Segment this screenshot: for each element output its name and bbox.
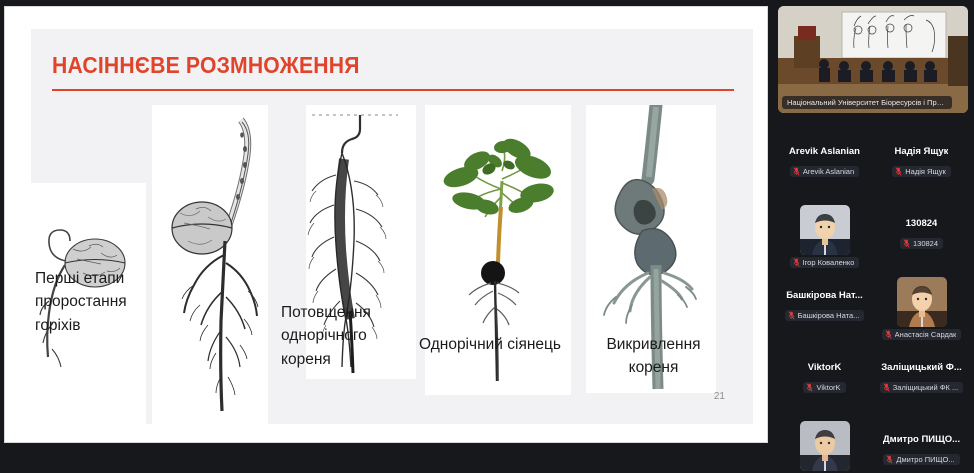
- caption-thickening-of-annual-root: Потовщення однорічного кореня: [281, 301, 411, 371]
- participant-badge-name: Надія Ящук: [905, 167, 945, 176]
- participant-name-badge: Заліщицький ФК ...: [880, 382, 963, 393]
- slide-canvas: НАСІННЄВЕ РОЗМНОЖЕННЯ: [31, 29, 753, 424]
- participant-display-name: Башкірова Нат...: [786, 290, 863, 301]
- participant-name-badge: Arevik Aslanian: [790, 166, 859, 177]
- presentation-frame: НАСІННЄВЕ РОЗМНОЖЕННЯ: [4, 6, 768, 443]
- muted-microphone-icon: [793, 167, 800, 176]
- muted-microphone-icon: [885, 330, 892, 339]
- participant-display-name: Надія Ящук: [895, 146, 949, 157]
- caption-first-germination-stages: Перші етапи проростання горіхів: [35, 267, 155, 337]
- caption-one-year-seedling: Однорічний сіянець: [419, 333, 579, 356]
- participant-badge-name: 130824: [913, 239, 938, 248]
- participant-tile[interactable]: Анастасія Сардак: [875, 271, 968, 343]
- participant-badge-name: Башкірова Ната...: [798, 311, 860, 320]
- muted-microphone-icon: [886, 455, 893, 464]
- participant-display-name: ViktorK: [808, 362, 842, 373]
- active-speaker-name-label: Національний Університет Біоресурсів і П…: [782, 96, 952, 109]
- participant-tile[interactable]: Ігор Коваленко: [778, 199, 871, 271]
- muted-microphone-icon: [895, 167, 902, 176]
- participant-badge-name: Дмитро ПИЩО...: [896, 455, 954, 464]
- avatar: [800, 205, 850, 255]
- zoom-meeting-window: НАСІННЄВЕ РОЗМНОЖЕННЯ: [0, 0, 974, 473]
- slide-page-number: 21: [714, 391, 725, 402]
- participants-sidebar: Національний Університет Біоресурсів і П…: [772, 0, 974, 473]
- muted-microphone-icon: [788, 311, 795, 320]
- muted-microphone-icon: [793, 258, 800, 267]
- title-underline-rule: [52, 89, 734, 91]
- participant-tile[interactable]: Arevik AslanianArevik Aslanian: [778, 127, 871, 199]
- active-speaker-video-tile[interactable]: Національний Університет Біоресурсів і П…: [778, 6, 968, 113]
- slide-title: НАСІННЄВЕ РОЗМНОЖЕННЯ: [52, 52, 360, 79]
- participant-badge-name: Ігор Коваленко: [803, 258, 855, 267]
- muted-microphone-icon: [806, 383, 813, 392]
- participant-badge-name: Анастасія Сардак: [895, 330, 957, 339]
- avatar: [897, 277, 947, 327]
- participant-tile[interactable]: Григорій Подпр...: [778, 415, 871, 473]
- participant-tile[interactable]: Надія ЯщукНадія Ящук: [875, 127, 968, 199]
- participant-name-badge: Ігор Коваленко: [790, 257, 860, 268]
- participant-name-badge: Анастасія Сардак: [882, 329, 962, 340]
- participant-tile[interactable]: Заліщицький Ф...Заліщицький ФК ...: [875, 343, 968, 415]
- participant-tile[interactable]: 130824130824: [875, 199, 968, 271]
- participant-display-name: Заліщицький Ф...: [881, 362, 962, 373]
- participant-display-name: 130824: [906, 218, 938, 229]
- participant-tile[interactable]: ViktorKViktorK: [778, 343, 871, 415]
- participant-tile[interactable]: Дмитро ПИЩО...Дмитро ПИЩО...: [875, 415, 968, 473]
- muted-microphone-icon: [903, 239, 910, 248]
- participant-name-badge: ViktorK: [803, 382, 845, 393]
- shared-screen-area[interactable]: НАСІННЄВЕ РОЗМНОЖЕННЯ: [0, 0, 772, 473]
- participant-name-badge: Башкірова Ната...: [785, 310, 865, 321]
- figure-germinating-walnut-with-roots: [152, 105, 268, 424]
- participant-tile[interactable]: Башкірова Нат...Башкірова Ната...: [778, 271, 871, 343]
- participant-name-badge: Надія Ящук: [892, 166, 950, 177]
- participant-badge-name: Arevik Aslanian: [803, 167, 854, 176]
- participant-display-name: Дмитро ПИЩО...: [883, 434, 960, 445]
- participant-badge-name: Заліщицький ФК ...: [893, 383, 958, 392]
- participant-name-badge: 130824: [900, 238, 943, 249]
- participant-name-badge: Дмитро ПИЩО...: [883, 454, 959, 465]
- caption-root-curvature: Викривлення кореня: [581, 333, 726, 380]
- participant-grid: Arevik AslanianArevik AslanianНадія Ящук…: [778, 127, 968, 473]
- muted-microphone-icon: [883, 383, 890, 392]
- participant-display-name: Arevik Aslanian: [789, 146, 860, 157]
- participant-badge-name: ViktorK: [816, 383, 840, 392]
- avatar: [800, 421, 850, 471]
